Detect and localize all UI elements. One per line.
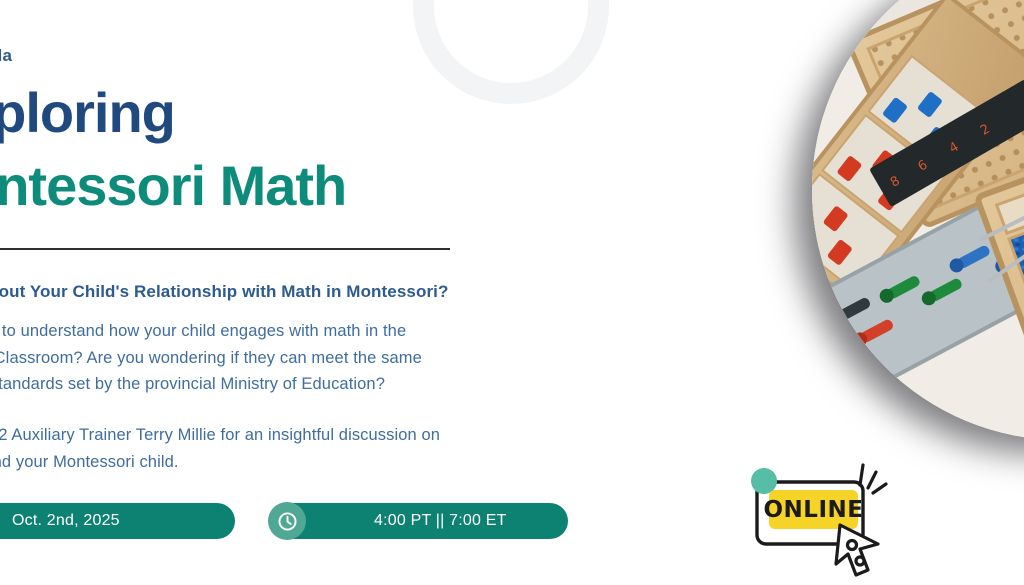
body-line: um standards set by the provincial Minis… [0,371,582,398]
body-line: cy and your Montessori child. [0,449,582,476]
body-line: ll 6-12 Auxiliary Trainer Terry Millie f… [0,422,582,449]
body-line: sori Classroom? Are you wondering if the… [0,345,582,372]
hero-photo: 8 6 4 2 [812,0,1024,440]
online-badge-graphic: ONLINE [740,452,900,577]
clock-icon [268,502,306,540]
hero-photo-circle: 8 6 4 2 [812,0,1024,440]
online-label-text: ONLINE [764,497,864,523]
online-badge: ONLINE [740,452,900,577]
title-line-2: ontessori Math [0,157,602,214]
body-paragraph-1: want to understand how your child engage… [0,318,582,398]
subheading: s About Your Child's Relationship with M… [0,282,448,302]
organization-name: anada [0,46,12,66]
event-time-label: 4:00 PT || 7:00 ET [374,512,507,530]
montessori-math-materials-photo: 8 6 4 2 [812,0,1024,440]
teal-dot-icon [751,468,777,494]
event-date-label: Oct. 2nd, 2025 [12,512,120,530]
title-divider [0,248,450,250]
title-line-1: xploring [0,84,602,141]
page-title: xploring ontessori Math [0,84,602,214]
event-date-pill: Oct. 2nd, 2025 [0,503,235,539]
hand-cursor-icon [836,525,878,575]
body-line: want to understand how your child engage… [0,318,582,345]
promo-content: anada xploring ontessori Math s About Yo… [0,0,602,585]
body-paragraph-2: ll 6-12 Auxiliary Trainer Terry Millie f… [0,422,582,475]
event-time-pill: 4:00 PT || 7:00 ET [270,503,568,539]
